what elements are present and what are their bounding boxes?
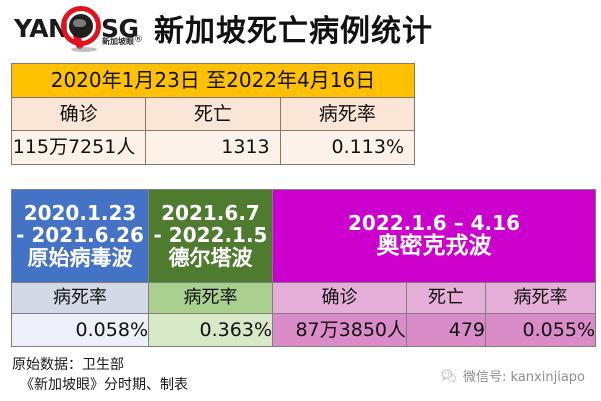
wave-header-omicron: 2022.1.6 – 4.16 奥密克戎波 — [273, 190, 596, 283]
wave-value-cfr-omicron: 0.055% — [486, 314, 596, 347]
wave-name-original: 原始病毒波 — [12, 247, 148, 271]
wechat-watermark: 微信号: kanxinjiapo — [441, 366, 585, 385]
magnifier-globe-icon — [61, 6, 101, 46]
wave-value-confirmed-omicron: 87万3850人 — [273, 314, 407, 347]
wave-value-deaths-omicron: 479 — [407, 314, 486, 347]
wave-dates-line2-delta: - 2022.1.5 — [149, 224, 272, 246]
wave-col-cfr-header-original: 病死率 — [12, 283, 149, 314]
summary-value-confirmed: 115万7251人 — [12, 131, 146, 165]
wave-dates-line1-omicron: 2022.1.6 – 4.16 — [273, 212, 595, 234]
page-title: 新加坡死亡病例统计 — [154, 6, 433, 50]
wave-col-cfr-header-delta: 病死率 — [149, 283, 273, 314]
summary-table: 2020年1月23日 至2022年4月16日 确诊 死亡 病死率 115万725… — [11, 63, 415, 165]
logo-shadow — [71, 47, 97, 52]
logo: YAN SG 新加坡眼 ® — [14, 2, 142, 54]
wave-value-row: 0.058% 0.363% 87万3850人 479 0.055% — [12, 314, 596, 347]
wave-name-delta: 德尔塔波 — [149, 247, 272, 271]
wave-column-header-row: 病死率 病死率 确诊 死亡 病死率 — [12, 283, 596, 314]
summary-table-title-row: 2020年1月23日 至2022年4月16日 — [12, 64, 415, 98]
page-header: YAN SG 新加坡眼 ® 新加坡死亡病例统计 — [0, 0, 601, 56]
source-note: 原始数据：卫生部 《新加坡眼》分时期、制表 — [12, 355, 188, 396]
summary-table-title: 2020年1月23日 至2022年4月16日 — [12, 64, 415, 98]
source-note-line1: 原始数据：卫生部 — [12, 357, 124, 373]
wave-value-cfr-delta: 0.363% — [149, 314, 273, 347]
summary-col-deaths-header: 死亡 — [146, 98, 280, 131]
source-note-line2: 《新加坡眼》分时期、制表 — [12, 375, 188, 395]
wave-dates-line2-original: - 2021.6.26 — [12, 224, 148, 246]
wave-col-confirmed-header-omicron: 确诊 — [273, 283, 407, 314]
summary-col-confirmed-header: 确诊 — [12, 98, 146, 131]
globe-icon — [69, 14, 93, 38]
wechat-watermark-text: 微信号: kanxinjiapo — [463, 366, 585, 385]
summary-value-cfr: 0.113% — [280, 131, 414, 165]
wave-dates-line1-delta: 2021.6.7 — [149, 202, 272, 224]
wave-name-omicron: 奥密克戎波 — [273, 234, 595, 260]
summary-col-cfr-header: 病死率 — [280, 98, 414, 131]
wechat-icon — [441, 368, 457, 384]
registered-mark-icon: ® — [134, 35, 143, 45]
summary-table-header-row: 确诊 死亡 病死率 — [12, 98, 415, 131]
wave-breakdown-table: 2020.1.23 - 2021.6.26 原始病毒波 2021.6.7 - 2… — [11, 189, 596, 347]
wave-col-cfr-header-omicron: 病死率 — [486, 283, 596, 314]
logo-subtitle: 新加坡眼 — [102, 36, 134, 47]
summary-table-value-row: 115万7251人 1313 0.113% — [12, 131, 415, 165]
wave-header-row: 2020.1.23 - 2021.6.26 原始病毒波 2021.6.7 - 2… — [12, 190, 596, 283]
wave-value-cfr-original: 0.058% — [12, 314, 149, 347]
wave-header-original: 2020.1.23 - 2021.6.26 原始病毒波 — [12, 190, 149, 283]
wave-dates-line1-original: 2020.1.23 — [12, 202, 148, 224]
summary-value-deaths: 1313 — [146, 131, 280, 165]
wave-col-deaths-header-omicron: 死亡 — [407, 283, 486, 314]
wave-header-delta: 2021.6.7 - 2022.1.5 德尔塔波 — [149, 190, 273, 283]
